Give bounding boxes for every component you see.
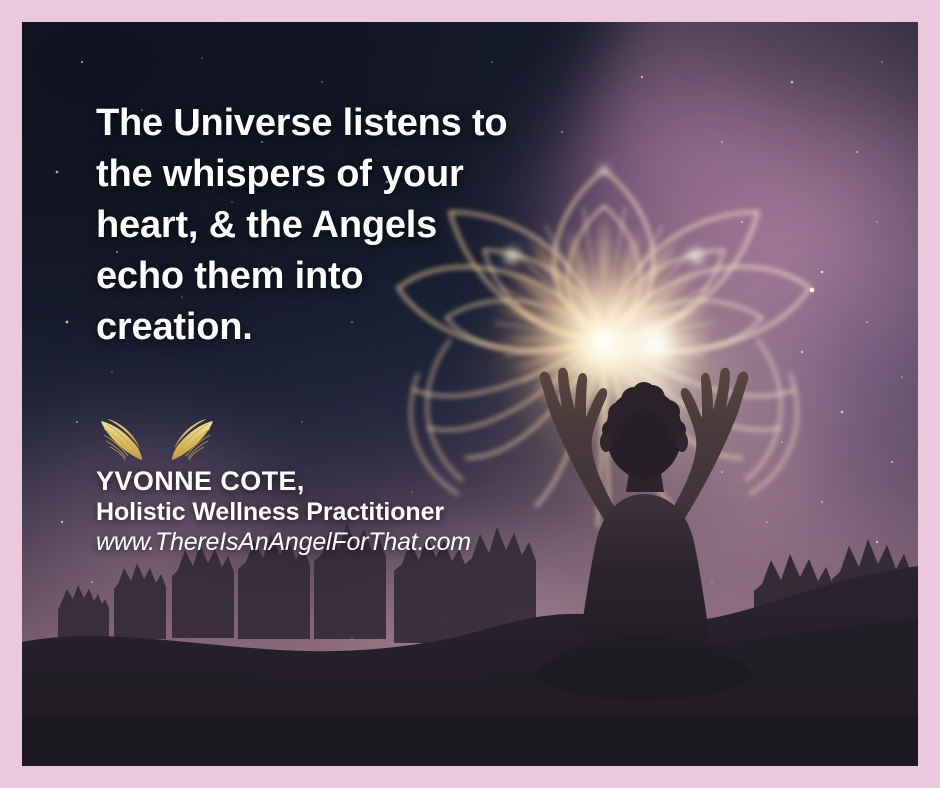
author-name: YVONNE COTE, — [96, 465, 526, 497]
signature-block: YVONNE COTE, Holistic Wellness Practitio… — [96, 418, 526, 557]
angel-wings-icon — [98, 418, 216, 464]
author-role: Holistic Wellness Practitioner — [96, 497, 526, 527]
quote-card: The Universe listens to the whispers of … — [0, 0, 940, 788]
artwork-canvas: The Universe listens to the whispers of … — [22, 22, 918, 766]
quote-text: The Universe listens to the whispers of … — [96, 98, 526, 353]
website-url[interactable]: www.ThereIsAnAngelForThat.com — [96, 527, 526, 557]
